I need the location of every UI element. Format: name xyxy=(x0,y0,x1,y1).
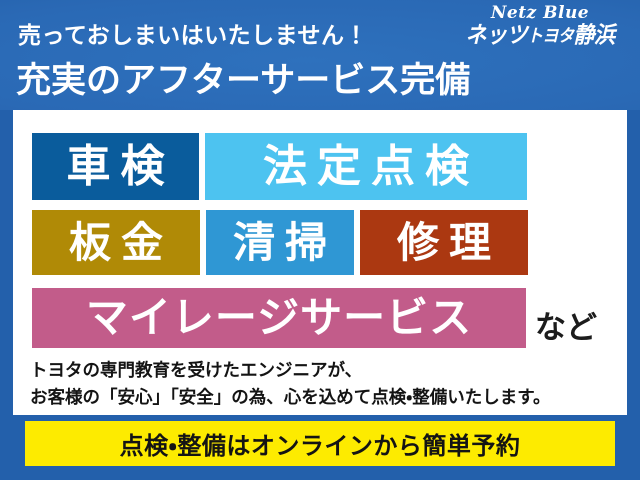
service-row-3: マイレージサービス など xyxy=(32,288,597,348)
service-badge-bankin: 板金 xyxy=(32,210,200,275)
service-badge-houtei-tenken: 法定点検 xyxy=(205,133,527,200)
logo-jp-part1: ネッツ xyxy=(465,22,527,48)
description-line-1: トヨタの専門教育を受けたエンジニアが、 xyxy=(30,358,550,385)
logo-english-text: Netz Blue xyxy=(450,4,630,23)
description-text: トヨタの専門教育を受けたエンジニアが、 お客様の「安心」「安全」の為、心を込めて… xyxy=(30,358,550,412)
description-line-2: お客様の「安心」「安全」の為、心を込めて点検・整備いたします。 xyxy=(30,385,550,412)
content-panel: 車検 法定点検 板金 清掃 修理 マイレージサービス など トヨタの専門教育を受… xyxy=(13,110,627,415)
logo-jp-part2: トヨタ xyxy=(527,25,574,46)
online-reservation-banner[interactable]: 点検・整備はオンラインから簡単予約 xyxy=(25,421,615,466)
header-banner: 売っておしまいはいたしません！ 充実のアフターサービス完備 Netz Blue … xyxy=(0,0,640,110)
service-row-2: 板金 清掃 修理 xyxy=(32,210,528,275)
service-badge-mileage-service: マイレージサービス xyxy=(32,288,526,348)
page-title: 充実のアフターサービス完備 xyxy=(16,52,470,103)
service-badge-shuuri: 修理 xyxy=(360,210,528,275)
service-badge-shaken: 車検 xyxy=(32,133,199,200)
service-etc-label: など xyxy=(535,313,597,348)
logo-jp-part3: 静浜 xyxy=(574,22,615,48)
logo-japanese-text: ネッツトヨタ静浜 xyxy=(450,23,630,48)
dealer-logo: Netz Blue ネッツトヨタ静浜 xyxy=(450,4,630,47)
service-row-1: 車検 法定点検 xyxy=(32,133,527,200)
after-service-poster: 売っておしまいはいたしません！ 充実のアフターサービス完備 Netz Blue … xyxy=(0,0,640,480)
service-badge-seisou: 清掃 xyxy=(206,210,354,275)
header-tagline: 売っておしまいはいたしません！ xyxy=(18,16,368,50)
online-reservation-label: 点検・整備はオンラインから簡単予約 xyxy=(120,426,521,461)
